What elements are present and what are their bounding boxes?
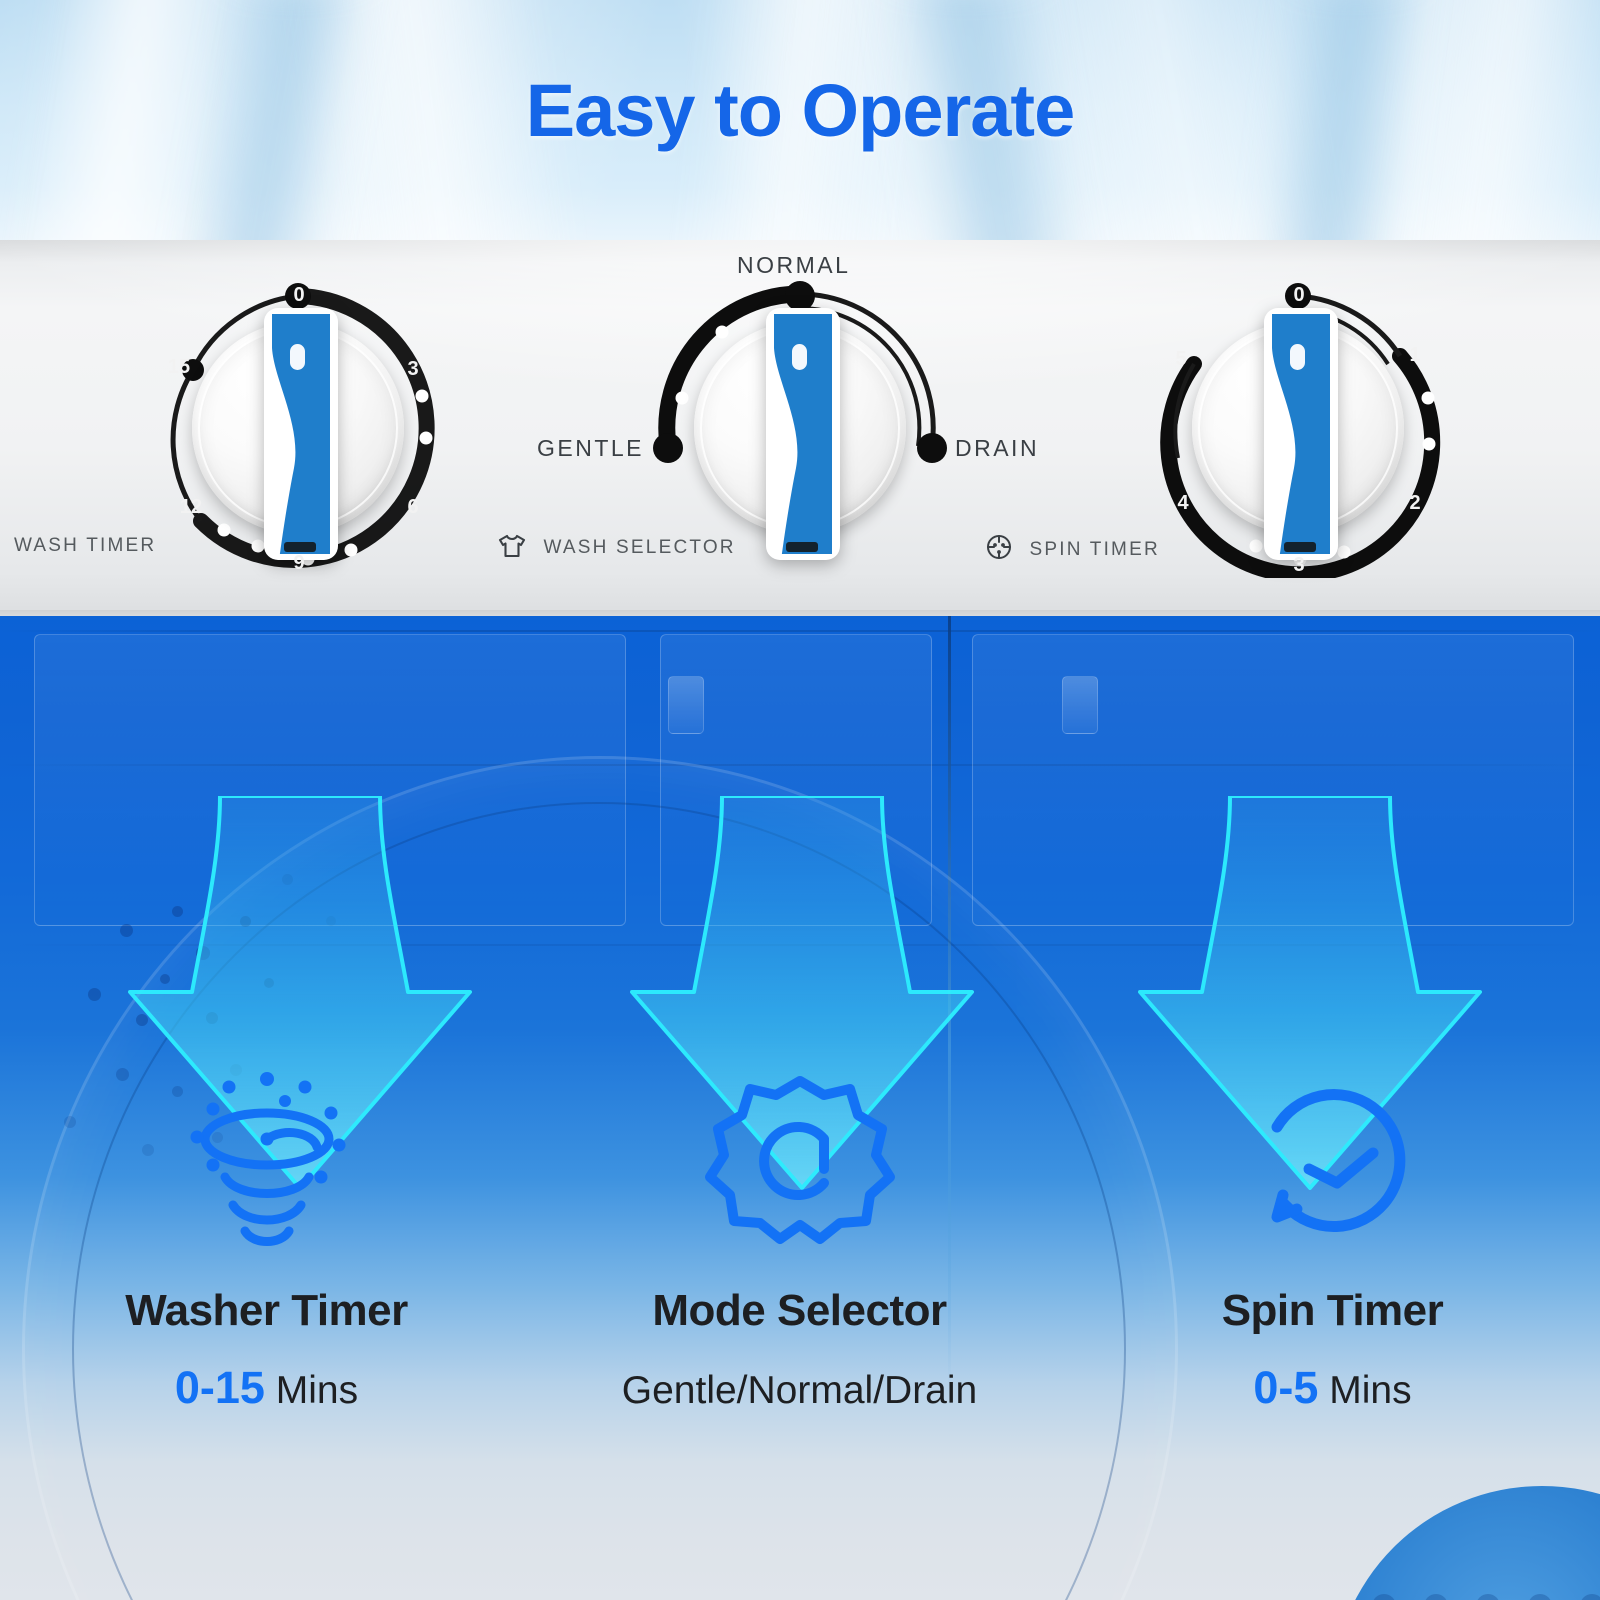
feature-unit: Mins	[276, 1369, 358, 1412]
tub-hole	[88, 988, 101, 1001]
feature-unit: Gentle/Normal/Drain	[622, 1369, 977, 1412]
lid-handle	[668, 676, 704, 734]
spin-timer-scale-5: 5	[1168, 348, 1194, 371]
feature-value: 0-15	[175, 1362, 265, 1413]
pointer-indicator-dot	[290, 344, 305, 370]
feature-mode-selector: Mode Selector Gentle/Normal/Drain	[533, 1060, 1066, 1414]
wash-timer-scale-12: 12	[174, 496, 208, 519]
tshirt-icon	[497, 533, 527, 565]
gear-rotate-icon	[700, 1060, 900, 1260]
wash-timer-scale-6: 6	[400, 496, 426, 519]
spin-timer-scale-0: 0	[1286, 284, 1312, 307]
feature-spin-timer: Spin Timer 0-5 Mins	[1066, 1060, 1599, 1414]
feature-list: Washer Timer 0-15 Mins Mode Selector Gen…	[0, 1060, 1600, 1580]
wash-timer-caption: WASH TIMER	[14, 535, 156, 557]
lid-handle	[1062, 676, 1098, 734]
spin-timer-scale-4: 4	[1170, 492, 1196, 515]
wash-timer-scale-15: 15	[162, 356, 196, 379]
spin-timer-scale-1: 1	[1402, 344, 1428, 367]
spin-timer-pointer[interactable]	[1264, 308, 1338, 560]
wash-timer-scale-0: 0	[286, 284, 312, 307]
headline-title: Easy to Operate	[0, 68, 1600, 153]
wash-selector-pointer[interactable]	[766, 308, 840, 560]
wash-timer-scale-3: 3	[400, 358, 426, 381]
feature-subtitle: 0-15 Mins	[0, 1362, 533, 1414]
feature-title: Mode Selector	[533, 1286, 1066, 1336]
wash-timer-pointer[interactable]	[264, 308, 338, 560]
body-seam-line	[0, 630, 1600, 632]
fabric-background-banner: Easy to Operate	[0, 0, 1600, 240]
spin-basket-icon	[985, 533, 1013, 567]
pointer-foot	[1284, 542, 1316, 552]
spin-timer-scale-3: 3	[1286, 554, 1312, 577]
wash-selector-mode-normal: NORMAL	[737, 252, 850, 279]
washer-control-panel: 0 3 6 9 12 15 WASH TIMER	[0, 240, 1600, 618]
product-feature-image: Easy to Operate	[0, 0, 1600, 1600]
feature-subtitle: Gentle/Normal/Drain	[533, 1362, 1066, 1414]
wash-timer-caption-label: WASH TIMER	[14, 535, 156, 556]
wash-selector-mode-gentle: GENTLE	[537, 435, 644, 462]
spin-timer-caption-label: SPIN TIMER	[1029, 539, 1159, 560]
clock-rotate-icon	[1233, 1060, 1433, 1260]
wash-timer-knob[interactable]: 0 3 6 9 12 15	[148, 278, 448, 578]
spin-timer-caption: SPIN TIMER	[985, 533, 1160, 567]
wash-selector-mode-drain: DRAIN	[955, 435, 1039, 462]
feature-washer-timer: Washer Timer 0-15 Mins	[0, 1060, 533, 1414]
spin-timer-knob[interactable]: 0 1 2 3 4 5	[1148, 278, 1448, 578]
spin-timer-scale-2: 2	[1402, 492, 1428, 515]
feature-title: Washer Timer	[0, 1286, 533, 1336]
tornado-vortex-icon	[167, 1060, 367, 1260]
feature-unit: Mins	[1329, 1369, 1411, 1412]
pointer-foot	[786, 542, 818, 552]
pointer-foot	[284, 542, 316, 552]
pointer-indicator-dot	[1290, 344, 1305, 370]
wash-selector-caption-label: WASH SELECTOR	[543, 537, 735, 558]
pointer-indicator-dot	[792, 344, 807, 370]
feature-title: Spin Timer	[1066, 1286, 1599, 1336]
wash-selector-caption: WASH SELECTOR	[497, 533, 736, 565]
wash-timer-scale-9: 9	[286, 552, 312, 575]
feature-subtitle: 0-5 Mins	[1066, 1362, 1599, 1414]
feature-value: 0-5	[1253, 1362, 1318, 1413]
